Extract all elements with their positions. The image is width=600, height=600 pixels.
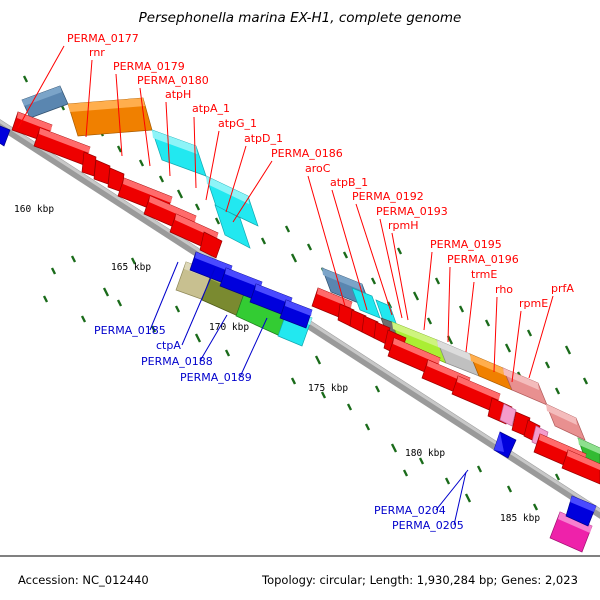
scale-tick-label: 175 kbp bbox=[308, 383, 348, 394]
gene-label[interactable]: atpD_1 bbox=[244, 132, 283, 145]
gene-label[interactable]: PERMA_0186 bbox=[271, 147, 343, 160]
gene-label[interactable]: ctpA bbox=[156, 339, 181, 352]
gene-label[interactable]: rpmH bbox=[388, 219, 419, 232]
scale-tick-label: 180 kbp bbox=[405, 448, 445, 459]
gene-feature[interactable] bbox=[82, 152, 96, 176]
gene-label[interactable]: PERMA_0180 bbox=[137, 74, 209, 87]
gene-label[interactable]: PERMA_0204 bbox=[374, 504, 446, 517]
gene-label[interactable]: PERMA_0189 bbox=[180, 371, 252, 384]
page-title: Persephonella marina EX-H1, complete gen… bbox=[139, 10, 462, 26]
gene-label[interactable]: PERMA_0193 bbox=[376, 205, 448, 218]
gene-label[interactable]: PERMA_0195 bbox=[430, 238, 502, 251]
gene-label[interactable]: PERMA_0205 bbox=[392, 519, 464, 532]
gene-label[interactable]: rho bbox=[495, 283, 513, 296]
scale-tick-label: 165 kbp bbox=[111, 262, 151, 273]
gene-feature[interactable] bbox=[152, 130, 206, 176]
gene-label[interactable]: PERMA_0177 bbox=[67, 32, 139, 45]
gene-feature[interactable] bbox=[546, 404, 585, 440]
gene-feature[interactable] bbox=[94, 160, 110, 184]
gene-label[interactable]: PERMA_0188 bbox=[141, 355, 213, 368]
gene-feature[interactable] bbox=[22, 86, 68, 118]
genome-map-viewer: Persephonella marina EX-H1, complete gen… bbox=[0, 0, 600, 600]
scale-tick-label: 185 kbp bbox=[500, 513, 540, 524]
gene-label[interactable]: atpG_1 bbox=[218, 117, 257, 130]
scale-tick-label: 160 kbp bbox=[14, 204, 54, 215]
gene-feature[interactable] bbox=[68, 98, 152, 136]
scale-tick-label: 170 kbp bbox=[209, 322, 249, 333]
gene-label[interactable]: rnr bbox=[89, 46, 105, 59]
accession-text: Accession: NC_012440 bbox=[18, 573, 149, 587]
genome-stats-text: Topology: circular; Length: 1,930,284 bp… bbox=[261, 573, 578, 587]
genome-map-canvas: Persephonella marina EX-H1, complete gen… bbox=[0, 0, 600, 600]
gene-label[interactable]: PERMA_0185 bbox=[94, 324, 166, 337]
gene-label[interactable]: atpH bbox=[165, 88, 191, 101]
gene-label[interactable]: prfA bbox=[551, 282, 574, 295]
gene-label[interactable]: trmE bbox=[471, 268, 497, 281]
gene-label[interactable]: atpB_1 bbox=[330, 176, 368, 189]
gene-label[interactable]: PERMA_0196 bbox=[447, 253, 519, 266]
gene-label[interactable]: aroC bbox=[305, 162, 331, 175]
gene-label[interactable]: PERMA_0192 bbox=[352, 190, 424, 203]
gene-label[interactable]: rpmE bbox=[519, 297, 548, 310]
gene-label[interactable]: PERMA_0179 bbox=[113, 60, 185, 73]
gene-label[interactable]: atpA_1 bbox=[192, 102, 230, 115]
